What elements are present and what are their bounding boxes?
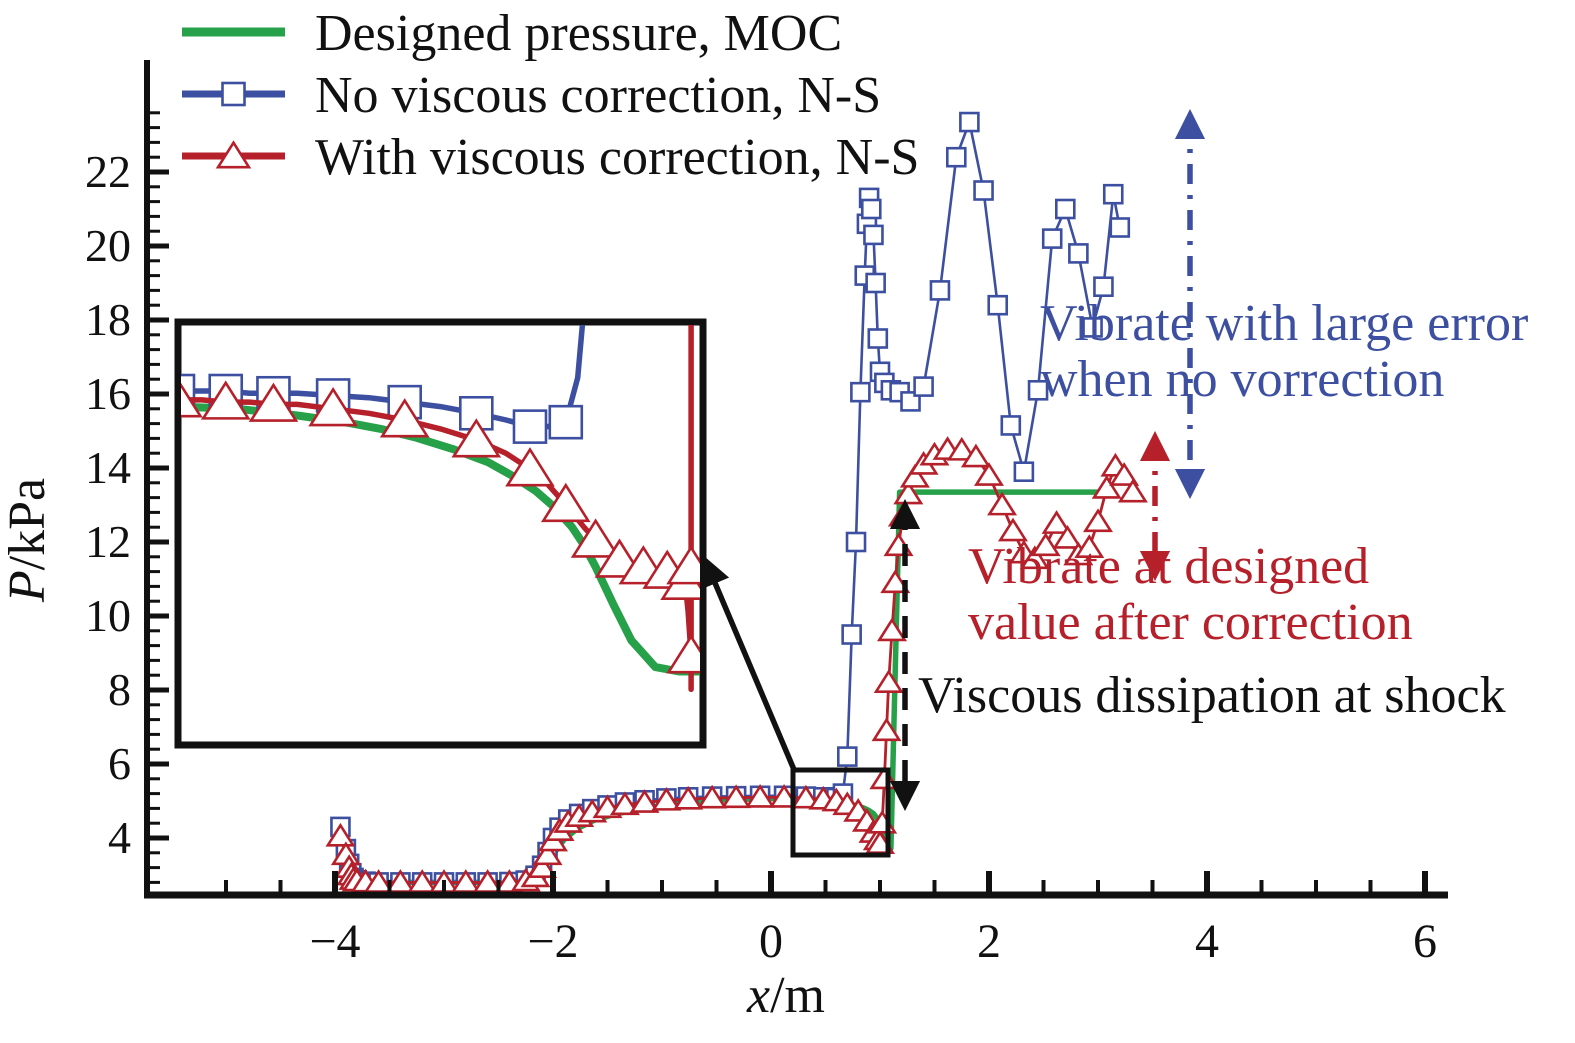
annotation-line-2: value after correction [968,594,1413,651]
series-marker [843,626,861,644]
series-marker [851,383,869,401]
y-tick-label: 8 [108,664,131,715]
series-marker [989,296,1007,314]
series-marker [1094,278,1112,296]
series-marker [879,620,904,640]
series-marker [1085,511,1110,531]
series-marker [862,200,880,218]
x-tick-label: −2 [527,915,578,968]
series-marker [960,113,978,131]
y-tick-label: 22 [85,146,131,197]
annotation-line-2: when no vorrection [1040,351,1444,408]
series-marker [1043,230,1061,248]
series-marker [574,228,606,260]
legend-label: Designed pressure, MOC [315,5,842,62]
series-marker [869,330,887,348]
series-marker [976,465,1001,485]
series-marker [867,274,885,292]
legend-group: Designed pressure, MOCNo viscous correct… [182,5,919,186]
annotation-vibrate-large-error: Vibrate with large errorwhen no vorrecti… [1040,295,1528,408]
series-marker [1104,185,1122,203]
x-tick-label: 6 [1413,915,1437,968]
legend-no-viscous-correction[interactable]: No viscous correction, N-S [182,67,881,124]
series-marker [975,182,993,200]
series-marker [1111,219,1129,237]
series-marker [1069,244,1087,262]
y-tick-label: 10 [85,590,131,641]
x-axis-label: x/m [746,967,825,1024]
annotation-line-1: Vibrate with large error [1040,295,1528,352]
x-tick-label: 4 [1195,915,1219,968]
annotation-line-1: Viscous dissipation at shock [918,667,1506,724]
series-marker [1002,416,1020,434]
x-tick-label: 0 [759,915,783,968]
y-tick-label: 4 [108,812,131,863]
series-marker [847,533,865,551]
y-tick-label: 6 [108,738,131,789]
y-axis-label-unit: /kPa [0,478,56,570]
series-marker [514,411,546,443]
y-tick-label: 16 [85,368,131,419]
annotation-viscous-dissipation: Viscous dissipation at shock [918,667,1506,724]
series-marker [1056,200,1074,218]
y-tick-label: 14 [85,442,131,493]
arrow-inset-callout [707,564,795,772]
x-tick-label: 2 [977,915,1001,968]
series-marker [989,494,1014,514]
y-tick-label: 12 [85,516,131,567]
series-marker [864,226,882,244]
annotation-line-1: Vibrate at designed [968,538,1369,595]
x-axis-label-unit: /m [770,967,825,1024]
y-tick-label: 20 [85,220,131,271]
legend-with-viscous-correction[interactable]: With viscous correction, N-S [182,129,919,186]
chart-svg: 46810121416182022−4−20246x/mP/kPaDesigne… [0,0,1575,1043]
series-marker [550,406,582,438]
series-marker [931,281,949,299]
y-tick-label: 18 [85,294,131,345]
series-marker [947,148,965,166]
series-marker [838,748,856,766]
chart-figure: 46810121416182022−4−20246x/mP/kPaDesigne… [0,0,1575,1043]
y-axis-label: P/kPa [0,478,56,603]
legend-label: With viscous correction, N-S [315,129,919,186]
legend-swatch-marker [223,83,245,105]
series-marker [915,378,933,396]
legend-label: No viscous correction, N-S [315,67,881,124]
x-tick-label: −4 [309,915,360,968]
x-axis-label-symbol: x [746,967,770,1024]
y-axis-label-symbol: P [0,570,56,603]
series-marker [1015,463,1033,481]
legend-designed-pressure[interactable]: Designed pressure, MOC [182,5,842,62]
annotation-vibrate-designed-value: Vibrate at designedvalue after correctio… [968,538,1413,651]
